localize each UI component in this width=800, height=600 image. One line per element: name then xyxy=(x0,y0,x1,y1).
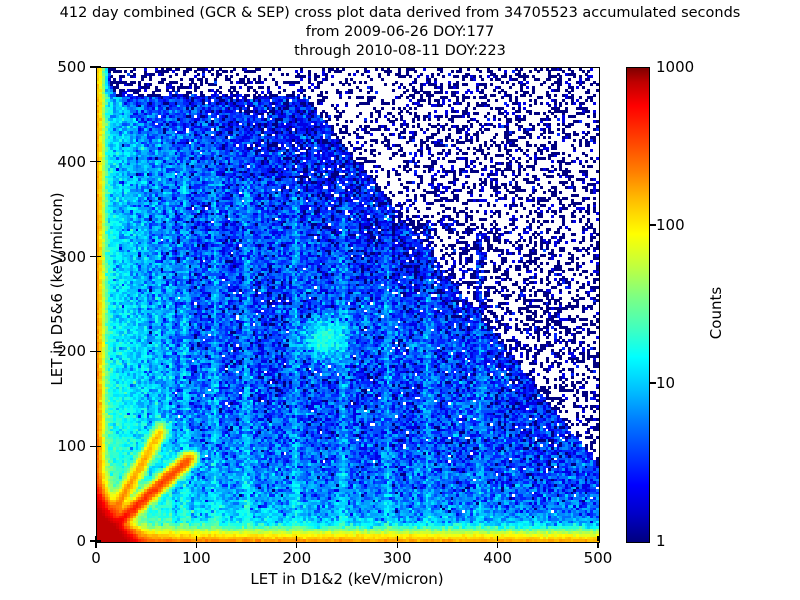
x-tick-label: 400 xyxy=(483,549,512,567)
title-line-2: from 2009-06-26 DOY:177 xyxy=(0,23,800,42)
x-tick-mark-inner xyxy=(296,536,297,541)
x-tick-mark xyxy=(497,542,498,548)
x-tick-label: 200 xyxy=(282,549,311,567)
y-tick-mark-inner xyxy=(96,66,101,67)
y-axis-label: LET in D5&6 (keV/micron) xyxy=(48,124,66,454)
figure-title: 412 day combined (GCR & SEP) cross plot … xyxy=(0,4,800,61)
x-tick-mark-inner xyxy=(196,536,197,541)
title-line-1: 412 day combined (GCR & SEP) cross plot … xyxy=(0,4,800,23)
y-tick-mark-inner xyxy=(96,446,101,447)
x-tick-mark xyxy=(296,542,297,548)
x-tick-mark xyxy=(397,542,398,548)
x-tick-label: 100 xyxy=(182,549,211,567)
x-tick-mark-inner xyxy=(497,536,498,541)
y-tick-label: 0 xyxy=(76,532,86,550)
colorbar xyxy=(626,67,650,543)
colorbar-tick-label: 1000 xyxy=(656,58,694,76)
x-tick-mark xyxy=(95,542,96,548)
x-tick-mark xyxy=(196,542,197,548)
x-tick-mark xyxy=(597,542,598,548)
colorbar-gradient xyxy=(627,68,649,542)
y-tick-mark-inner xyxy=(96,161,101,162)
x-tick-label: 300 xyxy=(383,549,412,567)
y-tick-label: 500 xyxy=(57,58,86,76)
colorbar-label: Counts xyxy=(707,243,725,383)
figure-canvas: 412 day combined (GCR & SEP) cross plot … xyxy=(0,0,800,600)
x-tick-label: 500 xyxy=(584,549,613,567)
y-tick-mark-inner xyxy=(96,540,101,541)
x-tick-mark-inner xyxy=(397,536,398,541)
x-tick-mark-inner xyxy=(597,536,598,541)
colorbar-tick-label: 1 xyxy=(656,532,666,550)
colorbar-tick-label: 100 xyxy=(656,216,685,234)
scatter-density-canvas xyxy=(97,68,599,542)
x-tick-label: 0 xyxy=(91,549,101,567)
plot-area xyxy=(96,67,600,543)
x-axis-label: LET in D1&2 (keV/micron) xyxy=(96,570,598,588)
y-tick-mark-inner xyxy=(96,256,101,257)
colorbar-tick-label: 10 xyxy=(656,374,675,392)
y-tick-mark-inner xyxy=(96,351,101,352)
